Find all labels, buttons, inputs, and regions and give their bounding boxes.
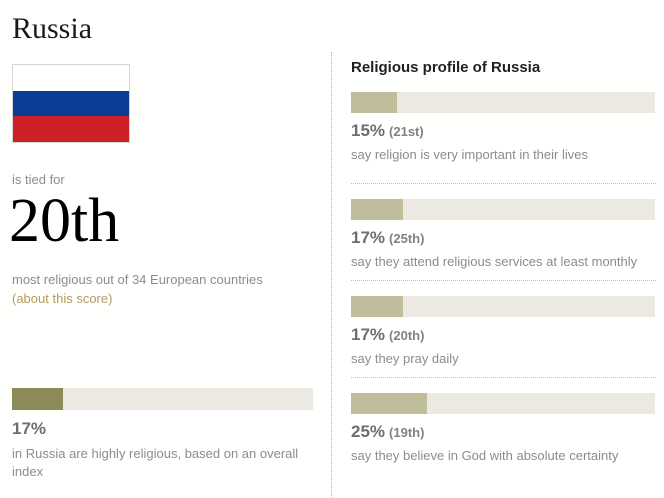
metric-rank: (20th) [389, 328, 424, 343]
metric-value-row: 17%(25th) [351, 229, 424, 247]
metric-bar-fill [351, 199, 403, 220]
metric-rank: (25th) [389, 231, 424, 246]
metric-value-row: 17%(20th) [351, 326, 424, 344]
metric-divider [351, 377, 656, 378]
metric-description: say religion is very important in their … [351, 147, 588, 163]
metric-percent: 15% [351, 121, 385, 140]
overall-index-description: in Russia are highly religious, based on… [12, 445, 317, 481]
flag-band-blue [13, 91, 129, 117]
metric-rank: (21st) [389, 124, 424, 139]
metric-bar-track [351, 92, 655, 113]
metric-bar-track [351, 199, 655, 220]
metric-description: say they believe in God with absolute ce… [351, 448, 618, 464]
metric-bar-fill [351, 92, 397, 113]
metric-divider [351, 280, 656, 281]
rank-value: 20th [9, 190, 119, 252]
metric-percent: 25% [351, 422, 385, 441]
metric-bar-track [351, 393, 655, 414]
flag-band-white [13, 65, 129, 91]
profile-title: Religious profile of Russia [351, 60, 540, 75]
metric-value-row: 25%(19th) [351, 423, 424, 441]
about-this-score-link[interactable]: (about this score) [12, 290, 112, 307]
metric-bar-fill [351, 393, 427, 414]
page-title: Russia [12, 0, 317, 44]
metric-percent: 17% [351, 228, 385, 247]
left-summary-column: Russia is tied for 20th most religious o… [12, 0, 317, 498]
metric-bar-track [351, 296, 655, 317]
metric-percent: 17% [351, 325, 385, 344]
overall-index-bar-track [12, 388, 313, 410]
religious-profile-column: Religious profile of Russia 15%(21st)say… [351, 0, 656, 498]
metric-description: say they attend religious services at le… [351, 254, 637, 270]
metric-divider [351, 183, 656, 184]
metric-bar-fill [351, 296, 403, 317]
russia-flag-icon [12, 64, 130, 143]
metric-value-row: 15%(21st) [351, 122, 424, 140]
column-divider [331, 52, 333, 498]
metric-description: say they pray daily [351, 351, 459, 367]
overall-index-bar-fill [12, 388, 63, 410]
flag-band-red [13, 116, 129, 142]
rank-subtitle: most religious out of 34 European countr… [12, 271, 312, 288]
metric-rank: (19th) [389, 425, 424, 440]
tied-for-label: is tied for [12, 173, 65, 186]
country-religion-profile-page: Russia is tied for 20th most religious o… [0, 0, 664, 498]
overall-index-percent: 17% [12, 420, 46, 437]
